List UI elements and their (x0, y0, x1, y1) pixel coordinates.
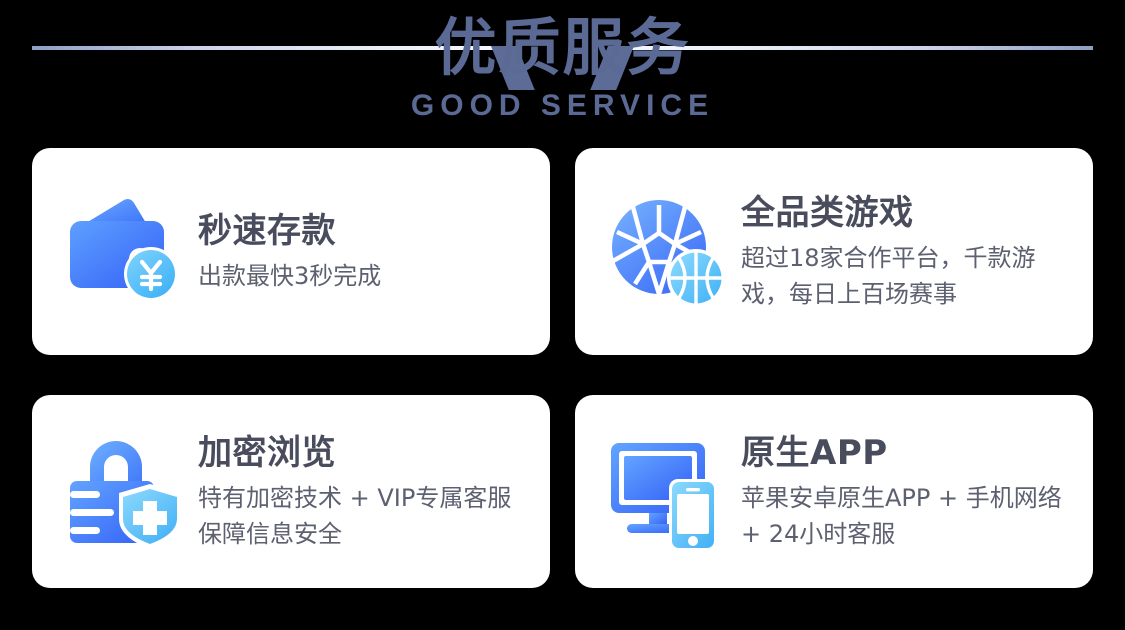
wallet-yen-icon-svg (62, 189, 188, 315)
wallet-yen-icon (62, 189, 188, 315)
feature-card-text: 全品类游戏 超过18家合作平台，千款游戏，每日上百场赛事 (741, 192, 1067, 312)
feature-card-grid: 秒速存款 出款最快3秒完成 (32, 148, 1093, 588)
feature-card-title: 秒速存款 (198, 210, 524, 252)
monitor-phone-icon-svg (605, 429, 731, 555)
feature-card-title: 加密浏览 (198, 432, 524, 474)
feature-card-desc: 超过18家合作平台，千款游戏，每日上百场赛事 (741, 240, 1067, 312)
monitor-phone-icon (605, 429, 731, 555)
feature-card-games[interactable]: 全品类游戏 超过18家合作平台，千款游戏，每日上百场赛事 (575, 148, 1093, 355)
feature-card-text: 加密浏览 特有加密技术 + VIP专属客服保障信息安全 (198, 432, 524, 552)
feature-card-encryption[interactable]: 加密浏览 特有加密技术 + VIP专属客服保障信息安全 (32, 395, 550, 588)
feature-card-desc: 出款最快3秒完成 (198, 258, 524, 294)
feature-card-title: 原生APP (741, 432, 1067, 474)
banner-header: 优质服务 GOOD SERVICE (0, 0, 1125, 148)
soccer-basketball-icon (605, 189, 731, 315)
soccer-basketball-icon-svg (605, 189, 731, 315)
page-subtitle: GOOD SERVICE (0, 88, 1125, 124)
feature-card-deposit[interactable]: 秒速存款 出款最快3秒完成 (32, 148, 550, 355)
lock-shield-icon-svg (62, 429, 188, 555)
feature-card-text: 秒速存款 出款最快3秒完成 (198, 210, 524, 294)
feature-card-native-app[interactable]: 原生APP 苹果安卓原生APP + 手机网络 + 24小时客服 (575, 395, 1093, 588)
feature-card-text: 原生APP 苹果安卓原生APP + 手机网络 + 24小时客服 (741, 432, 1067, 552)
page-title: 优质服务 (0, 0, 1125, 88)
header-title-block: 优质服务 GOOD SERVICE (0, 0, 1125, 124)
lock-shield-icon (62, 429, 188, 555)
feature-card-title: 全品类游戏 (741, 192, 1067, 234)
feature-card-desc: 特有加密技术 + VIP专属客服保障信息安全 (198, 480, 524, 552)
feature-card-desc: 苹果安卓原生APP + 手机网络 + 24小时客服 (741, 480, 1067, 552)
good-service-banner: 优质服务 GOOD SERVICE (0, 0, 1125, 630)
